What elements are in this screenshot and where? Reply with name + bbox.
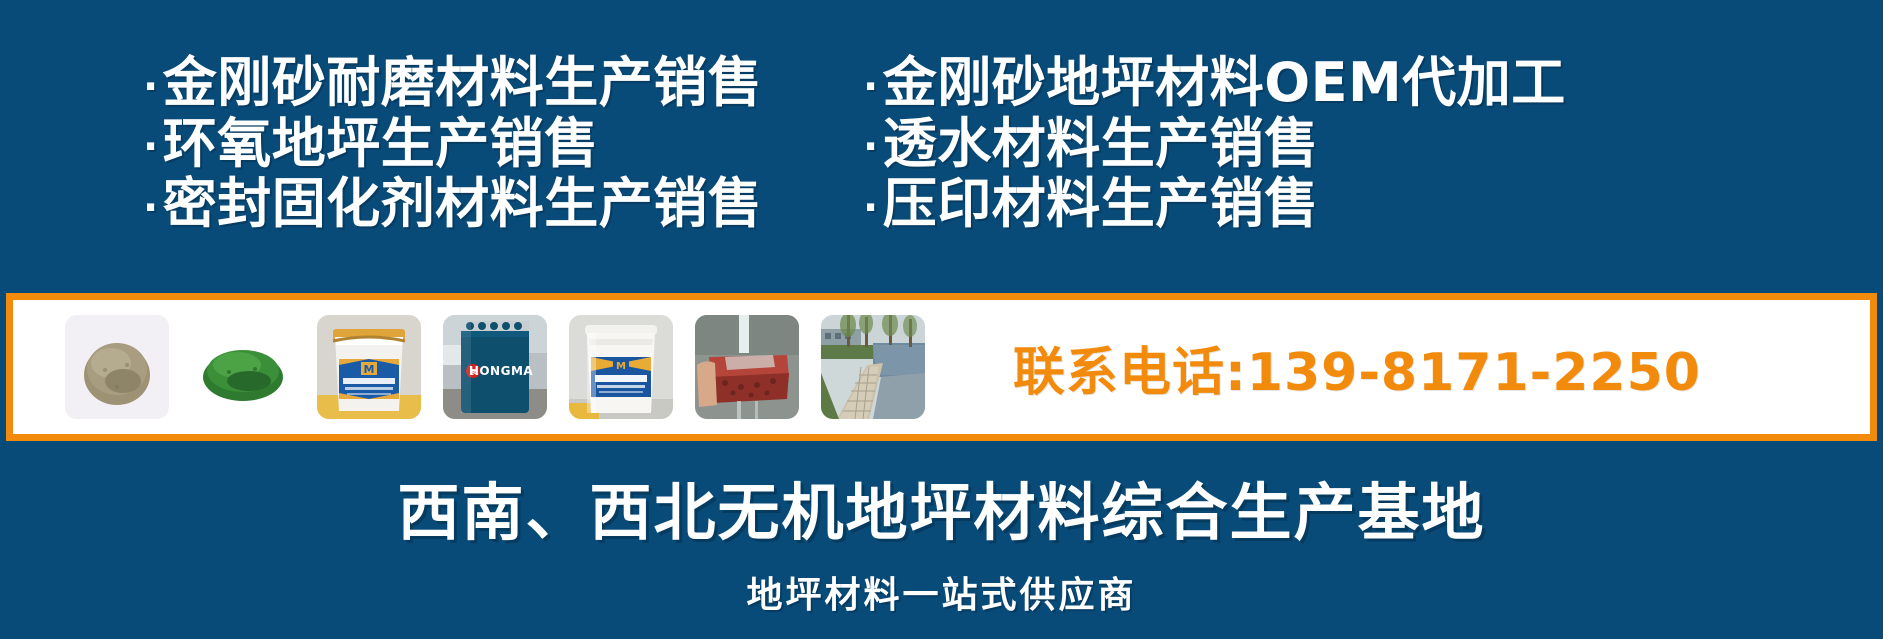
bullet-icon: ·: [143, 188, 159, 228]
permeable-concrete-photo: [695, 315, 799, 419]
svg-text:M: M: [364, 363, 375, 376]
service-item-label: 环氧地坪生产销售: [163, 112, 599, 175]
service-item-label: 透水材料生产销售: [883, 112, 1319, 175]
contact-phone[interactable]: 联系电话:139-8171-2250: [1013, 330, 1701, 405]
advertising-banner: ·金刚砂耐磨材料生产销售 ·环氧地坪生产销售 ·密封固化剂材料生产销售 ·金刚砂…: [0, 0, 1883, 639]
bullet-icon: ·: [863, 188, 879, 228]
service-column-left: ·金刚砂耐磨材料生产销售 ·环氧地坪生产销售 ·密封固化剂材料生产销售: [143, 53, 843, 234]
bullet-icon: ·: [143, 67, 159, 107]
service-item-label: 密封固化剂材料生产销售: [163, 172, 763, 235]
bottom-headline-section: 西南、西北无机地坪材料综合生产基地 地坪材料一站式供应商: [0, 441, 1883, 639]
svg-text:M: M: [616, 361, 626, 372]
stamped-pavement-photo: [821, 315, 925, 419]
service-lists-section: ·金刚砂耐磨材料生产销售 ·环氧地坪生产销售 ·密封固化剂材料生产销售 ·金刚砂…: [0, 0, 1883, 288]
service-item-label: 金刚砂地坪材料OEM代加工: [883, 51, 1566, 114]
green-powder-pile-photo: [191, 315, 295, 419]
service-item: ·透水材料生产销售: [863, 114, 1863, 174]
sealer-bucket-photo: M: [317, 315, 421, 419]
epoxy-bucket-photo: M: [569, 315, 673, 419]
bullet-icon: ·: [863, 127, 879, 167]
service-item: ·压印材料生产销售: [863, 174, 1863, 234]
service-item: ·环氧地坪生产销售: [143, 114, 843, 174]
svg-text:HONGMA: HONGMA: [469, 364, 534, 378]
sub-headline: 地坪材料一站式供应商: [746, 566, 1136, 618]
main-headline: 西南、西北无机地坪材料综合生产基地: [397, 462, 1485, 552]
service-column-right: ·金刚砂地坪材料OEM代加工 ·透水材料生产销售 ·压印材料生产销售: [863, 53, 1863, 234]
service-item-label: 金刚砂耐磨材料生产销售: [163, 51, 763, 114]
product-strip: M ✻: [6, 293, 1877, 441]
service-item: ·金刚砂耐磨材料生产销售: [143, 53, 843, 113]
service-item: ·密封固化剂材料生产销售: [143, 174, 843, 234]
service-item: ·金刚砂地坪材料OEM代加工: [863, 53, 1863, 113]
service-item-label: 压印材料生产销售: [883, 172, 1319, 235]
bullet-icon: ·: [863, 67, 879, 107]
hongma-drum-photo: ✻ HONGMA: [443, 315, 547, 419]
bullet-icon: ·: [143, 127, 159, 167]
grey-powder-pile-photo: [65, 315, 169, 419]
